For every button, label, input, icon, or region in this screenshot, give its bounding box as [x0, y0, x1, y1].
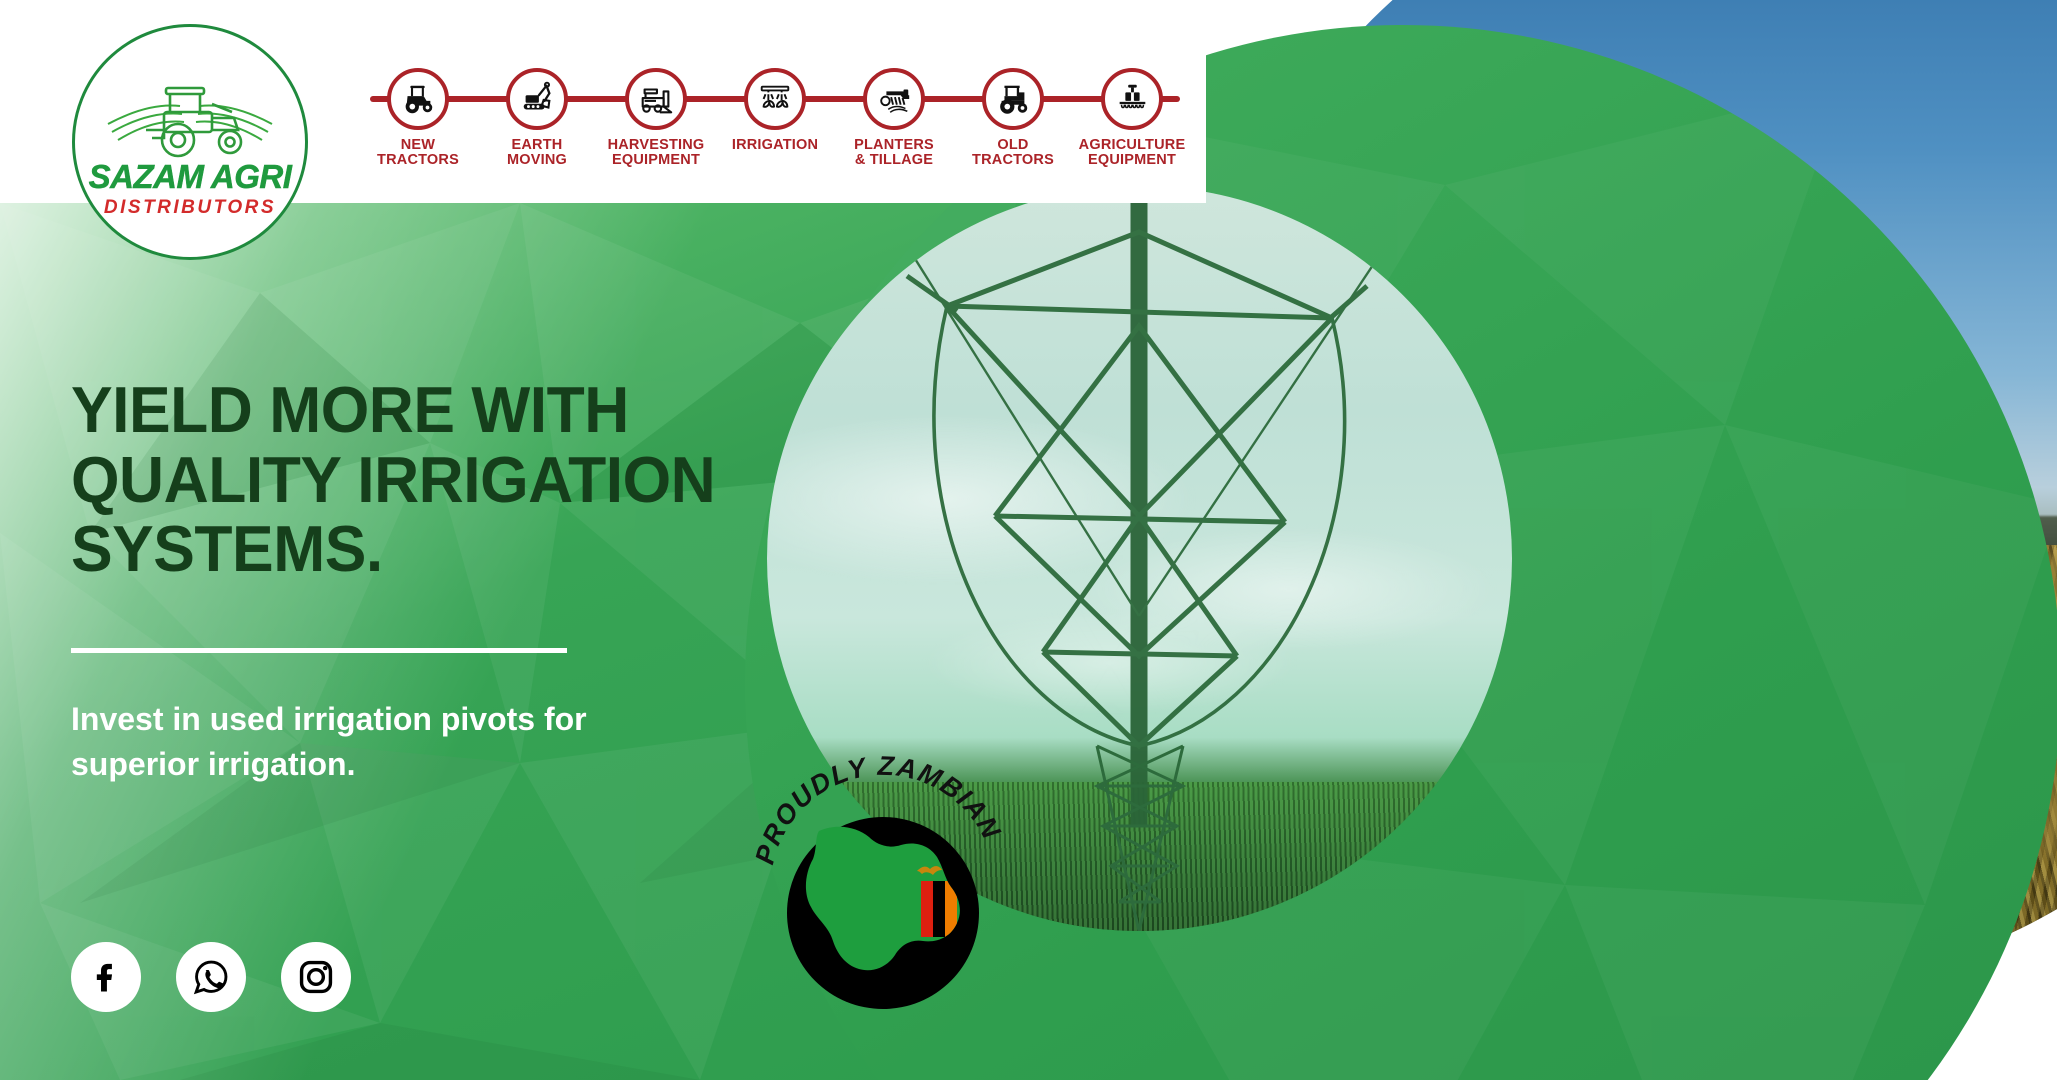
excavator-icon[interactable]	[506, 68, 568, 130]
logo-subtitle: DISTRIBUTORS	[104, 198, 276, 217]
nav-label: IRRIGATION	[732, 138, 818, 153]
hero-content: YIELD MORE WITH QUALITY IRRIGATION SYSTE…	[71, 375, 791, 788]
nav-item-agriculture-equipment[interactable]: AGRICULTURE EQUIPMENT	[1084, 55, 1180, 185]
new-tractor-icon[interactable]	[387, 68, 449, 130]
nav-item-old-tractors[interactable]: OLD TRACTORS	[965, 55, 1061, 185]
logo-name: SAZAM AGRI	[89, 160, 292, 193]
whatsapp-icon[interactable]	[176, 942, 246, 1012]
nav-item-harvesting-equipment[interactable]: HARVESTING EQUIPMENT	[608, 55, 704, 185]
old-tractor-icon[interactable]	[982, 68, 1044, 130]
category-nav: NEW TRACTORS EAR	[370, 55, 1180, 185]
irrigation-sprinkler-icon[interactable]	[744, 68, 806, 130]
nav-label: NEW TRACTORS	[377, 138, 459, 168]
proudly-zambian-badge: PROUDLY ZAMBIAN	[753, 745, 1013, 1025]
page-title: YIELD MORE WITH QUALITY IRRIGATION SYSTE…	[71, 375, 762, 584]
nav-label: AGRICULTURE EQUIPMENT	[1079, 138, 1186, 168]
banner-stage: SAZAM AGRI DISTRIBUTORS	[0, 0, 2057, 1080]
nav-label: HARVESTING EQUIPMENT	[608, 138, 705, 168]
facebook-icon[interactable]	[71, 942, 141, 1012]
social-links	[71, 942, 351, 1012]
nav-label: OLD TRACTORS	[972, 138, 1054, 168]
planter-tillage-icon[interactable]	[863, 68, 925, 130]
tractor-logo-icon	[106, 74, 274, 162]
nav-item-irrigation[interactable]: IRRIGATION	[727, 55, 823, 185]
nav-label: PLANTERS & TILLAGE	[854, 138, 934, 168]
nav-item-planters-tillage[interactable]: PLANTERS & TILLAGE	[846, 55, 942, 185]
hero-subtitle: Invest in used irrigation pivots for sup…	[71, 697, 591, 788]
combine-harvester-icon[interactable]	[625, 68, 687, 130]
nav-item-new-tractors[interactable]: NEW TRACTORS	[370, 55, 466, 185]
harrow-equipment-icon[interactable]	[1101, 68, 1163, 130]
nav-label: EARTH MOVING	[507, 138, 567, 168]
nav-item-earth-moving[interactable]: EARTH MOVING	[489, 55, 585, 185]
instagram-icon[interactable]	[281, 942, 351, 1012]
divider	[71, 648, 567, 653]
brand-logo[interactable]: SAZAM AGRI DISTRIBUTORS	[72, 24, 308, 260]
